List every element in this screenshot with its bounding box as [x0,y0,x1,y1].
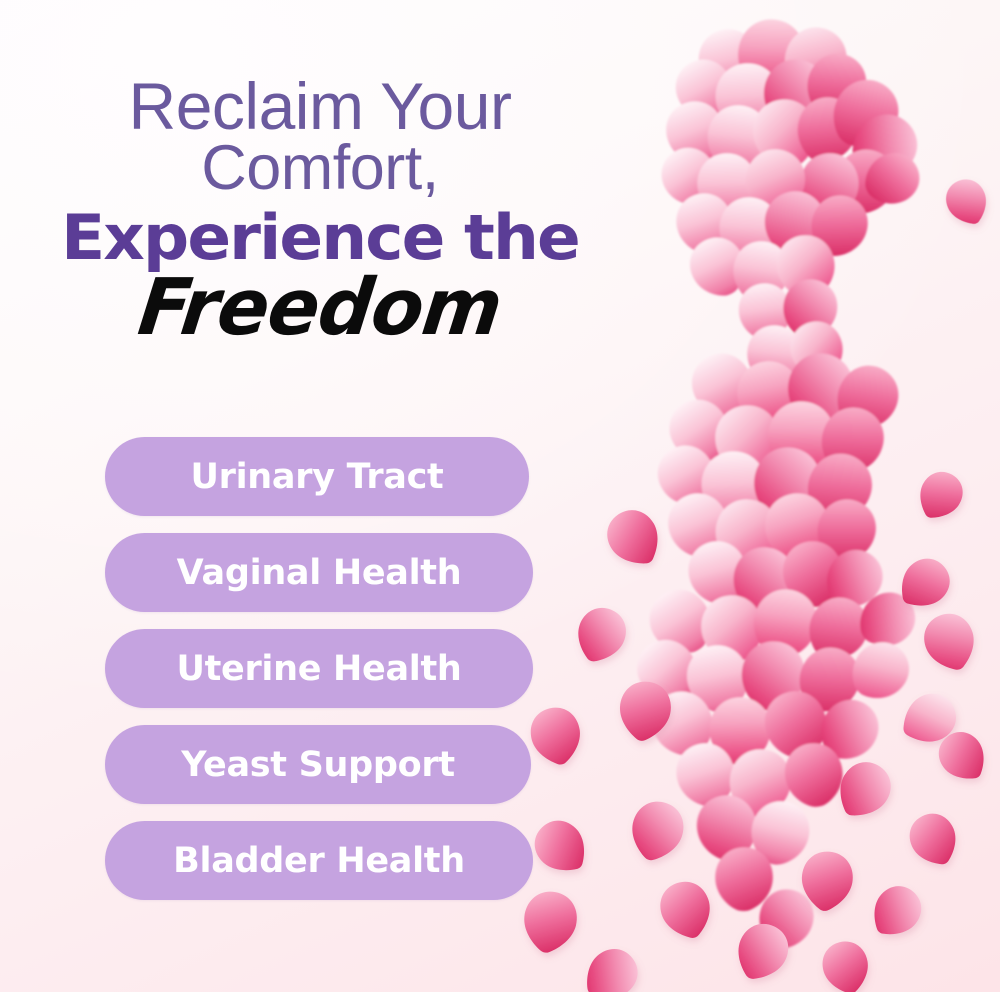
headline-line-4: Freedom [5,269,636,349]
benefit-pill-yeast-support[interactable]: Yeast Support [105,725,531,804]
benefit-pill-label: Uterine Health [176,649,461,689]
headline-block: Reclaim Your Comfort, Experience the Fre… [0,0,640,420]
benefit-pill-vaginal-health[interactable]: Vaginal Health [105,533,533,612]
benefits-list: Urinary Tract Vaginal Health Uterine Hea… [105,437,533,900]
benefit-pill-label: Yeast Support [181,745,455,785]
torso-petals [648,343,910,619]
headline-line-1: Reclaim Your [0,74,640,138]
benefit-pill-urinary-tract[interactable]: Urinary Tract [105,437,529,516]
benefit-pill-bladder-health[interactable]: Bladder Health [105,821,533,900]
benefit-pill-uterine-health[interactable]: Uterine Health [105,629,533,708]
headline-line-3: Experience the [0,205,653,271]
benefit-pill-label: Urinary Tract [191,457,444,497]
benefit-pill-label: Bladder Health [173,841,465,881]
head-petals [651,15,929,306]
benefit-pill-label: Vaginal Health [177,553,462,593]
headline-line-2: Comfort, [0,138,640,199]
promo-poster: Reclaim Your Comfort, Experience the Fre… [0,0,1000,992]
